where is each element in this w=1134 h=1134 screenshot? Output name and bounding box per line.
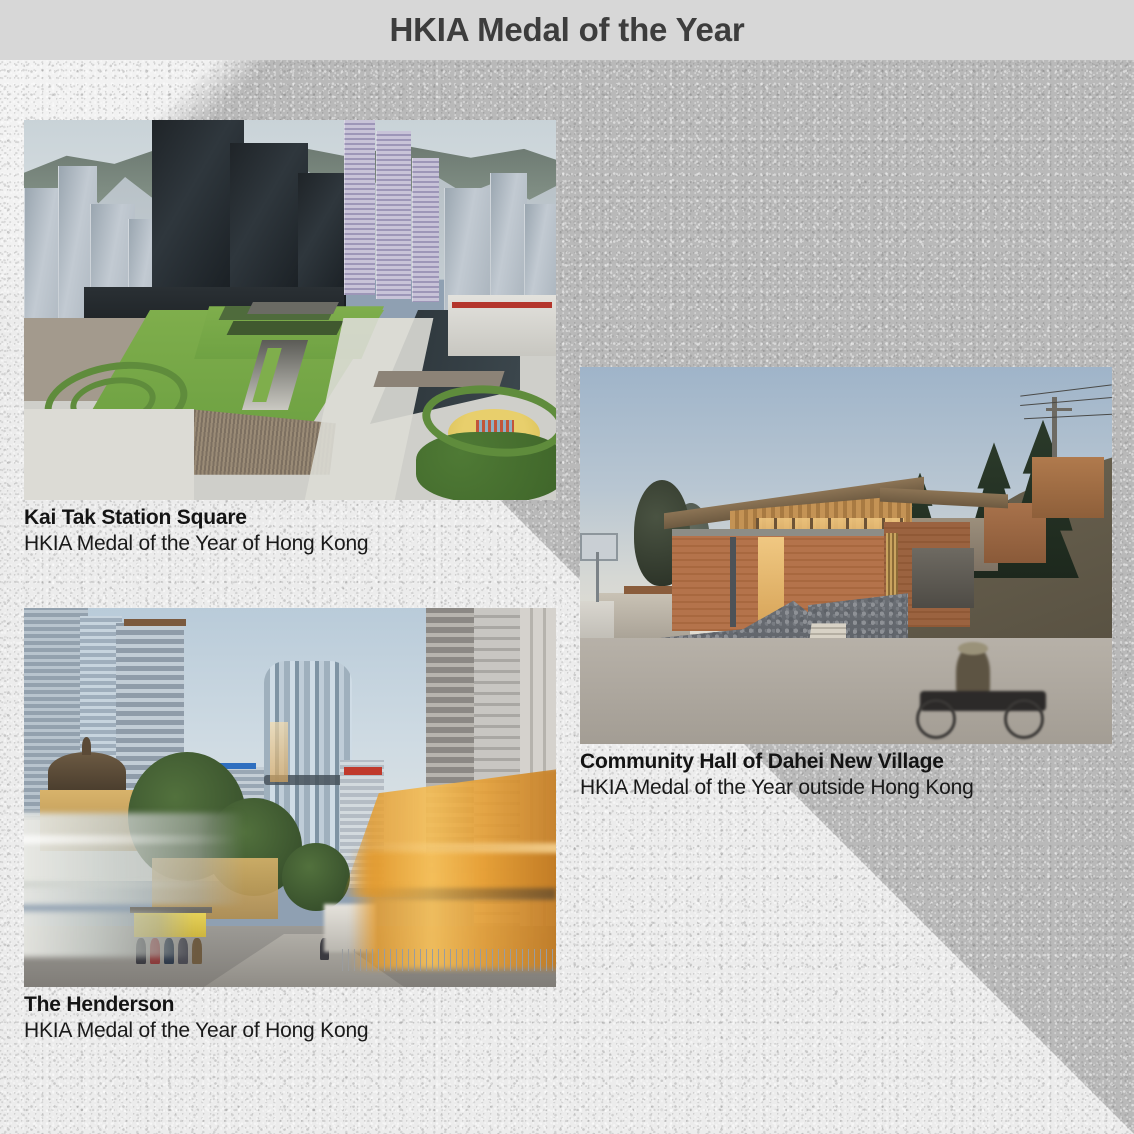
- hd-tram-light-streak: [354, 843, 556, 853]
- hd-dome-finial: [82, 737, 91, 755]
- dh-pole-crossarm: [1046, 408, 1072, 411]
- hd-street-tree: [282, 843, 350, 911]
- award-card-kai-tak-station-square[interactable]: Kai Tak Station Square HKIA Medal of the…: [24, 120, 556, 556]
- kt-plaza-paving: [24, 409, 194, 500]
- dh-rear-block: [912, 548, 974, 608]
- kt-residential-tower: [412, 158, 439, 302]
- dh-window-slot: [730, 537, 736, 627]
- award-subtitle: HKIA Medal of the Year of Hong Kong: [24, 532, 556, 556]
- kt-residential-tower: [344, 120, 375, 295]
- kt-pavilion: [247, 302, 339, 314]
- award-subtitle: HKIA Medal of the Year outside Hong Kong: [580, 776, 1112, 800]
- award-subtitle: HKIA Medal of the Year of Hong Kong: [24, 1019, 556, 1043]
- hd-road-barrier: [342, 949, 556, 971]
- kt-retail-signage: [452, 302, 552, 308]
- kt-terrace: [227, 321, 344, 335]
- award-card-community-hall-of-dahei-new-village[interactable]: Community Hall of Dahei New Village HKIA…: [580, 367, 1112, 800]
- dh-basketball-backboard: [580, 533, 618, 561]
- photo-community-hall-of-dahei-new-village: [580, 367, 1112, 744]
- award-title: Kai Tak Station Square: [24, 506, 556, 530]
- hd-rooftop-sign: [344, 767, 382, 775]
- hd-tower-reflection: [270, 722, 288, 783]
- award-card-the-henderson[interactable]: The Henderson HKIA Medal of the Year of …: [24, 608, 556, 1043]
- kt-tower: [490, 173, 527, 302]
- hd-motion-blurred-bus-left: [24, 813, 244, 905]
- dh-motorcycle-wheel: [1004, 699, 1044, 739]
- hd-motion-streak: [24, 835, 238, 844]
- dh-motorcycle-wheel: [916, 699, 956, 739]
- photo-kai-tak-station-square: [24, 120, 556, 500]
- kt-dark-glass-tower: [230, 143, 308, 310]
- dh-basketball-post: [596, 552, 599, 602]
- hd-legislative-dome: [48, 752, 126, 792]
- award-title: The Henderson: [24, 993, 556, 1017]
- hd-tram-window-streak: [360, 888, 556, 900]
- dh-village-house: [1032, 457, 1104, 517]
- kt-tower: [444, 188, 491, 310]
- photo-the-henderson: [24, 608, 556, 987]
- hd-motion-streak: [24, 881, 224, 888]
- hd-motion-blurred-bus-lower: [24, 911, 194, 957]
- kt-residential-tower: [376, 131, 411, 298]
- slide-root: HKIA Medal of the Year: [0, 0, 1134, 1134]
- hd-tower-cornice: [124, 619, 186, 626]
- page-title: HKIA Medal of the Year: [389, 11, 744, 49]
- dh-concrete-beam: [672, 529, 884, 536]
- award-title: Community Hall of Dahei New Village: [580, 750, 1112, 774]
- header-band: HKIA Medal of the Year: [0, 0, 1134, 60]
- dh-entrance-glazing: [758, 537, 784, 620]
